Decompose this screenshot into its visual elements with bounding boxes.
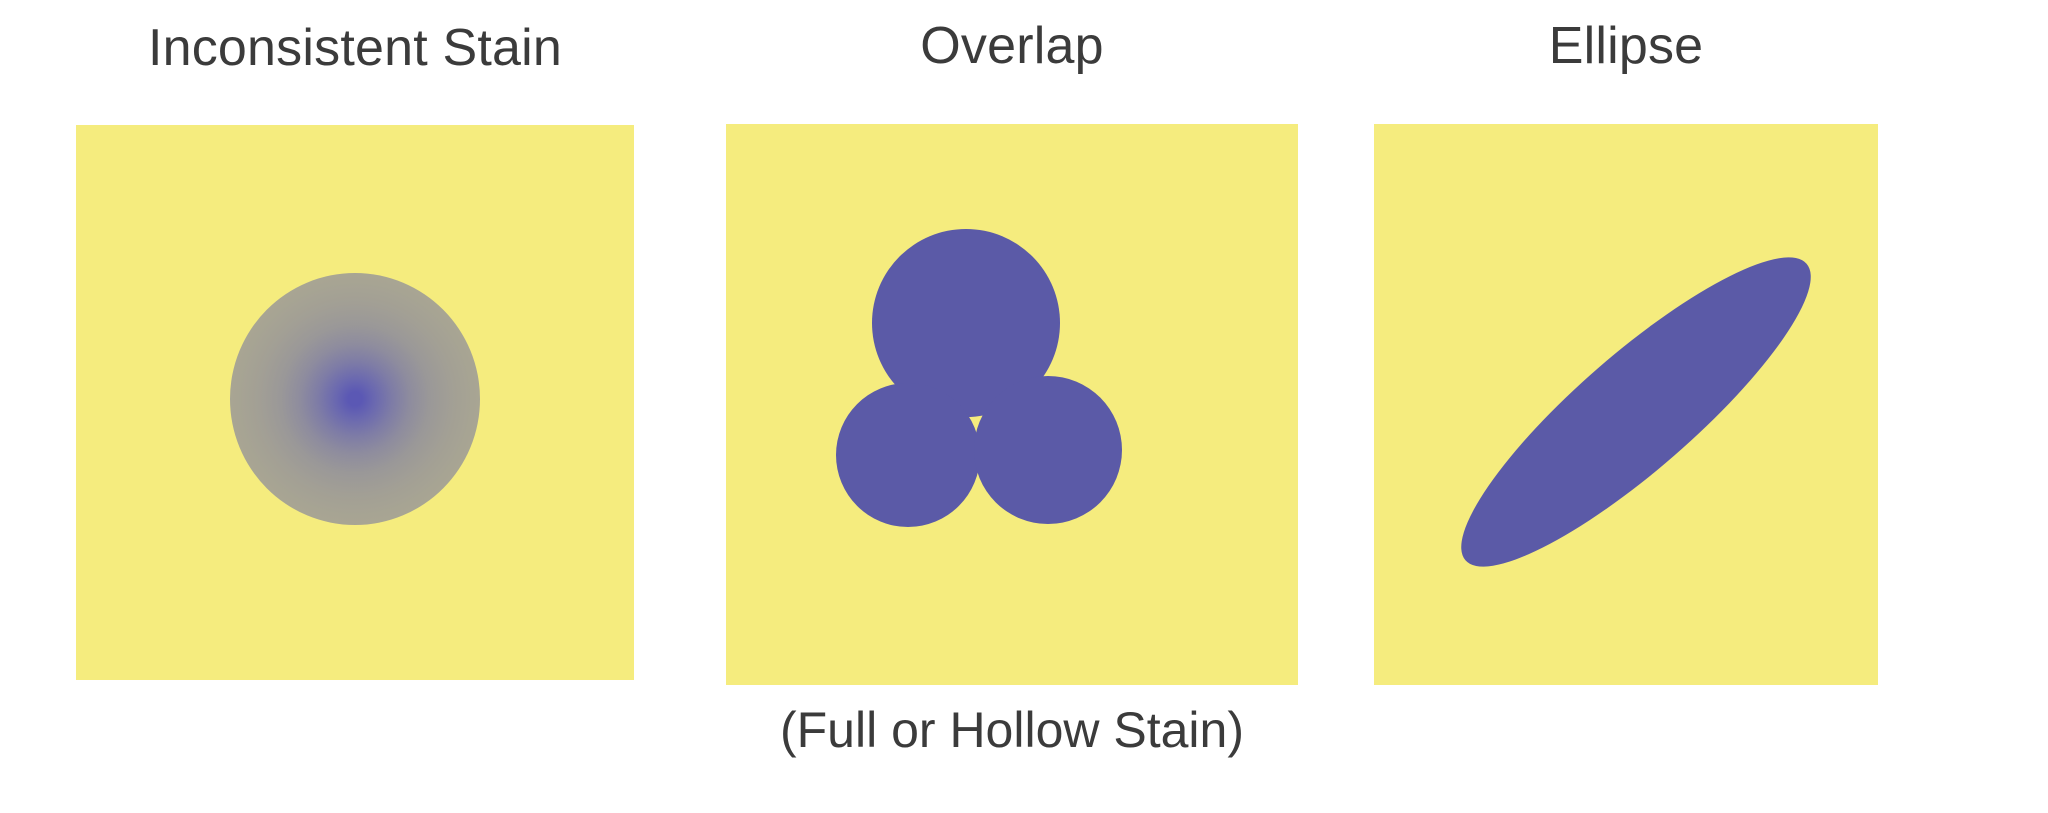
panel-canvas-ellipse	[1374, 124, 1878, 685]
panel-overlap: Overlap (Full or Hollow Stain)	[726, 0, 1298, 685]
panel-title-overlap: Overlap	[726, 20, 1298, 72]
panel-title-ellipse: Ellipse	[1374, 20, 1878, 72]
inconsistent-stain-blob	[230, 273, 480, 525]
panel-caption-overlap: (Full or Hollow Stain)	[686, 705, 1338, 755]
ellipse-stain	[1427, 220, 1844, 604]
panel-inconsistent-stain: Inconsistent Stain	[76, 0, 634, 680]
panel-title-inconsistent-stain: Inconsistent Stain	[76, 22, 634, 74]
overlap-stain-shape	[726, 124, 1298, 685]
overlap-circle-bottom-right	[974, 376, 1122, 524]
overlap-circle-bottom-left	[836, 383, 980, 527]
stain-shape-figure: Inconsistent Stain Overlap (Full or Holl…	[0, 0, 2048, 813]
panel-canvas-inconsistent-stain	[76, 125, 634, 680]
panel-ellipse: Ellipse	[1374, 0, 1878, 685]
ellipse-stain-shape	[1374, 124, 1878, 685]
panel-canvas-overlap	[726, 124, 1298, 685]
